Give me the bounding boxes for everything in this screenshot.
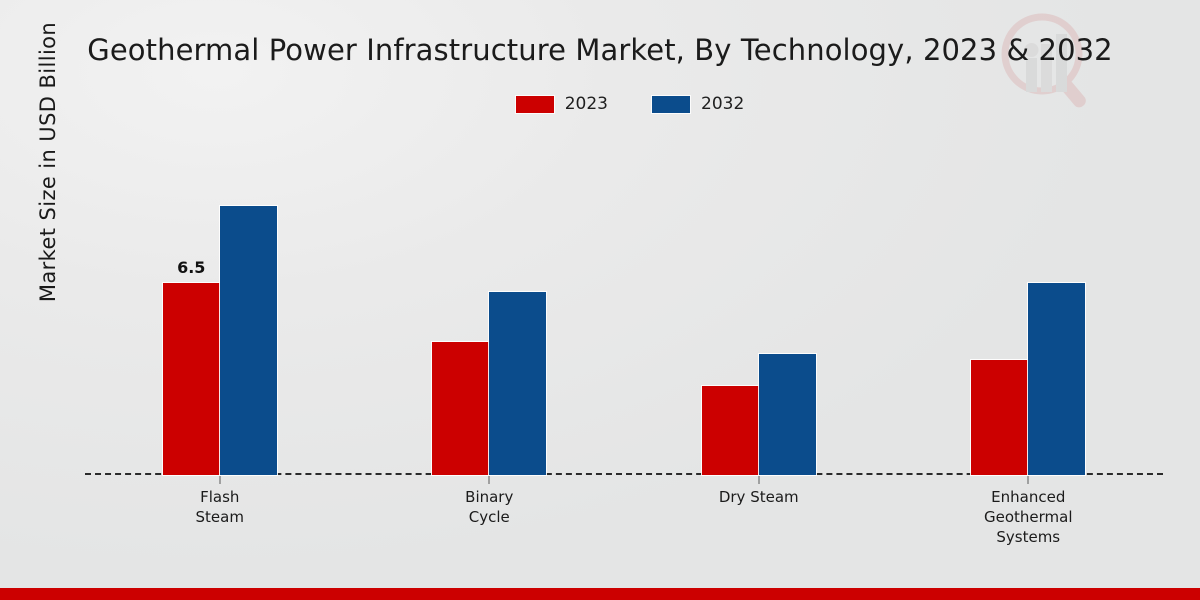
- chart-legend: 2023 2032: [0, 94, 1200, 114]
- bar-pair: 6.5: [163, 150, 277, 475]
- y-axis-title: Market Size in USD Billion: [36, 0, 60, 332]
- bar-pair: [702, 150, 816, 475]
- bar-2032-3[interactable]: [1028, 283, 1085, 475]
- legend-label-2032: 2032: [701, 94, 744, 114]
- bar-groups: 6.5Flash SteamBinary CycleDry SteamEnhan…: [85, 150, 1163, 475]
- bar-group: Dry Steam: [624, 150, 894, 475]
- bar-2032-1[interactable]: [489, 292, 546, 475]
- x-axis-category-label: Binary Cycle: [465, 487, 513, 527]
- x-axis-category-label: Dry Steam: [719, 487, 799, 507]
- bar-2023-2[interactable]: [702, 386, 759, 475]
- x-axis-tick: [219, 476, 220, 484]
- bar-2023-1[interactable]: [432, 342, 489, 475]
- legend-label-2023: 2023: [565, 94, 608, 114]
- x-axis-tick: [1028, 476, 1029, 484]
- legend-item-2023[interactable]: 2023: [516, 94, 608, 114]
- bar-group: 6.5Flash Steam: [85, 150, 355, 475]
- x-axis-tick: [758, 476, 759, 484]
- legend-swatch-2023: [516, 96, 554, 113]
- bar-2032-2[interactable]: [759, 354, 816, 475]
- bar-2023-0[interactable]: 6.5: [163, 283, 220, 475]
- bar-group: Enhanced Geothermal Systems: [894, 150, 1164, 475]
- bar-pair: [432, 150, 546, 475]
- bar-2023-3[interactable]: [971, 360, 1028, 475]
- chart-page: Geothermal Power Infrastructure Market, …: [0, 0, 1200, 600]
- legend-item-2032[interactable]: 2032: [652, 94, 744, 114]
- bar-pair: [971, 150, 1085, 475]
- bar-value-label: 6.5: [177, 258, 205, 277]
- plot-area: 6.5Flash SteamBinary CycleDry SteamEnhan…: [85, 150, 1163, 475]
- x-axis-tick: [489, 476, 490, 484]
- footer-accent-bar: [0, 588, 1200, 600]
- chart-title: Geothermal Power Infrastructure Market, …: [0, 33, 1200, 67]
- bar-group: Binary Cycle: [355, 150, 625, 475]
- bar-2032-0[interactable]: [220, 206, 277, 475]
- legend-swatch-2032: [652, 96, 690, 113]
- x-axis-category-label: Flash Steam: [196, 487, 244, 527]
- x-axis-category-label: Enhanced Geothermal Systems: [984, 487, 1073, 547]
